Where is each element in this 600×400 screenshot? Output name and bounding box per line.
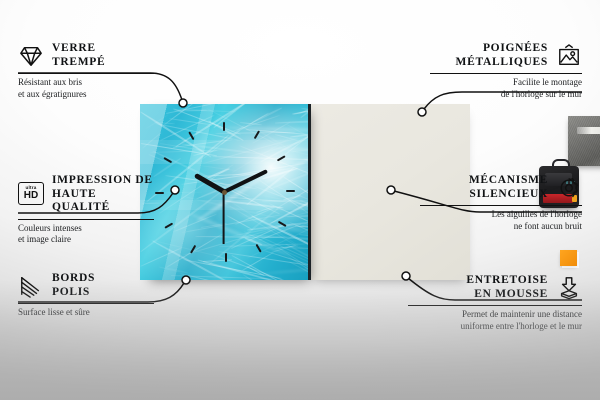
callout-header: ultra HD IMPRESSION DE HAUTE QUALITÉ	[18, 174, 154, 215]
polished-edges-icon	[18, 274, 44, 298]
callout-title: ENTRETOISE EN MOUSSE	[466, 274, 548, 301]
second-hand	[223, 192, 225, 244]
callout-entretoise-en-mousse: ENTRETOISE EN MOUSSE Permet de maintenir…	[408, 274, 582, 332]
callout-mecanisme-silencieux: MÉCANISME SILENCIEUX Les aiguilles de l'…	[420, 174, 582, 232]
gear-icon	[556, 176, 582, 200]
callout-poignees-metalliques: POIGNÉES MÉTALLIQUES Facilite le montage…	[430, 42, 582, 100]
callout-rule	[430, 73, 582, 74]
callout-title: IMPRESSION DE HAUTE QUALITÉ	[52, 174, 154, 215]
callout-rule	[408, 305, 582, 306]
callout-subtitle: Facilite le montage de l'horloge sur le …	[430, 77, 582, 100]
callout-subtitle: Les aiguilles de l'horloge ne font aucun…	[420, 209, 582, 232]
callout-subtitle: Couleurs intenses et image claire	[18, 223, 154, 246]
infographic-canvas: VERRE TREMPÉ Résistant aux bris et aux é…	[0, 0, 600, 400]
foam-spacer	[560, 250, 577, 266]
callout-subtitle: Surface lisse et sûre	[18, 307, 154, 319]
callout-rule	[18, 73, 154, 74]
callout-header: BORDS POLIS	[18, 272, 154, 299]
callout-rule	[18, 219, 154, 220]
callout-subtitle: Résistant aux bris et aux égratignures	[18, 77, 154, 100]
picture-hanger-icon	[556, 44, 582, 68]
callout-bords-polis: BORDS POLIS Surface lisse et sûre	[18, 272, 154, 319]
hand-center-cap	[222, 190, 227, 195]
callout-rule	[420, 205, 582, 206]
mechanism-hanger-hook	[552, 159, 570, 170]
diamond-icon	[18, 44, 44, 68]
callout-verre-trempe: VERRE TREMPÉ Résistant aux bris et aux é…	[18, 42, 154, 100]
callout-header: MÉCANISME SILENCIEUX	[420, 174, 582, 201]
foam-spacer-icon	[556, 276, 582, 300]
callout-header: ENTRETOISE EN MOUSSE	[408, 274, 582, 301]
bracket-keyhole-slot	[577, 127, 600, 134]
callout-header: VERRE TREMPÉ	[18, 42, 154, 69]
callout-title: MÉCANISME SILENCIEUX	[469, 174, 548, 201]
callout-subtitle: Permet de maintenir une distance uniform…	[408, 309, 582, 332]
metal-hanging-bracket	[568, 116, 600, 166]
callout-title: VERRE TREMPÉ	[52, 42, 105, 69]
printed-tempered-glass-clock-face	[140, 104, 308, 280]
callout-title: POIGNÉES MÉTALLIQUES	[456, 42, 548, 69]
callout-title: BORDS POLIS	[52, 272, 95, 299]
callout-impression-haute-qualite: ultra HD IMPRESSION DE HAUTE QUALITÉ Cou…	[18, 174, 154, 246]
ultra-hd-icon: ultra HD	[18, 182, 44, 206]
hd-label: HD	[24, 191, 38, 201]
callout-rule	[18, 303, 154, 304]
callout-header: POIGNÉES MÉTALLIQUES	[430, 42, 582, 69]
